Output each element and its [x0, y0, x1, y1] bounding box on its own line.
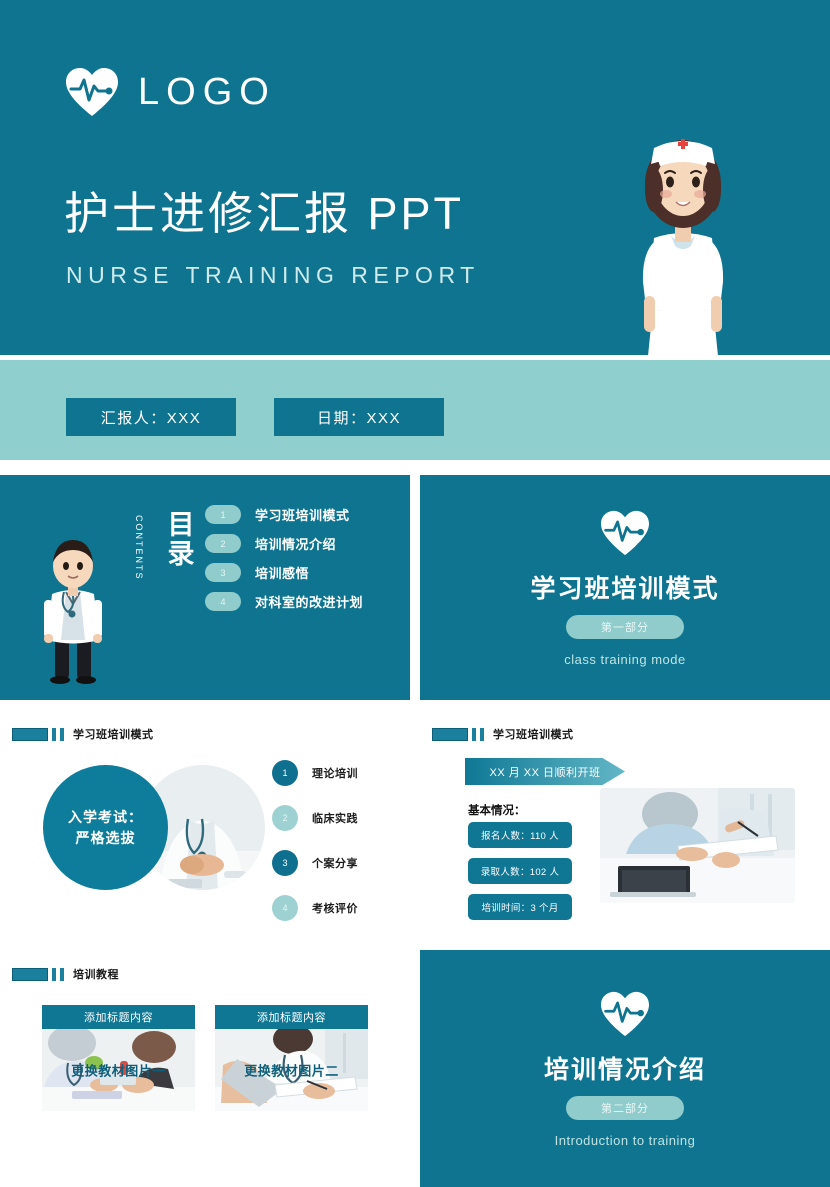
toc-list: 1 学习班培训模式 2 培训情况介绍 3 培训感悟 4 对科室的改进计划 [205, 505, 363, 611]
tutorial-card-image-label: 更换教材图片二 [215, 1061, 368, 1080]
admission-line-1: 入学考试： [68, 809, 143, 825]
heart-pulse-icon [599, 990, 651, 1038]
step-number: 3 [272, 850, 298, 876]
logo: LOGO [64, 66, 276, 118]
header-tick-icon [52, 728, 56, 741]
tutorial-card-title: 添加标题内容 [215, 1005, 368, 1029]
slide-admission: 学习班培训模式 入学考试： 严格选拔 [0, 710, 410, 940]
doctor-consultation-photo: 更换教材图片一 [42, 1029, 195, 1111]
slide-section-one: 学习班培训模式 第一部分 class training mode [420, 475, 830, 700]
training-step[interactable]: 1 理论培训 [272, 760, 358, 786]
toc-item[interactable]: 3 培训感悟 [205, 563, 363, 582]
slide-header: 学习班培训模式 [12, 726, 154, 742]
toc-item[interactable]: 1 学习班培训模式 [205, 505, 363, 524]
opening-date-banner: XX 月 XX 日顺利开班 [465, 758, 625, 785]
date-button[interactable]: 日期：XXX [274, 398, 444, 436]
step-label: 理论培训 [312, 765, 358, 781]
logo-text: LOGO [138, 73, 276, 111]
section-badge: 第二部分 [566, 1096, 684, 1120]
cover-meta-buttons: 汇报人：XXX 日期：XXX [66, 398, 444, 436]
cover-divider-rule [0, 355, 830, 360]
toc-item-label: 学习班培训模式 [255, 505, 350, 524]
step-label: 临床实践 [312, 810, 358, 826]
toc-item-label: 培训感悟 [255, 563, 309, 582]
basic-info-list: 报名人数：110 人 录取人数：102 人 培训时间：3 个月 [468, 822, 572, 920]
tutorial-card-image-label: 更换教材图片一 [42, 1061, 195, 1080]
admission-circle-badge: 入学考试： 严格选拔 [43, 765, 168, 890]
cover-title: 护士进修汇报 PPT [64, 190, 464, 237]
slide-header: 学习班培训模式 [432, 726, 574, 742]
heart-pulse-icon [599, 509, 651, 557]
slide-header-title: 学习班培训模式 [73, 726, 154, 742]
training-step[interactable]: 2 临床实践 [272, 805, 358, 831]
header-bar-icon [12, 968, 48, 981]
header-tick-icon [60, 728, 64, 741]
step-label: 个案分享 [312, 855, 358, 871]
section-title: 培训情况介绍 [544, 1050, 706, 1086]
stat-pill: 报名人数：110 人 [468, 822, 572, 848]
slide-table-of-contents: CONTENTS 目录 1 学习班培训模式 2 培训情况介绍 3 培训感悟 4 … [0, 475, 410, 700]
toc-item-label: 对科室的改进计划 [255, 592, 363, 611]
toc-item[interactable]: 2 培训情况介绍 [205, 534, 363, 553]
step-label: 考核评价 [312, 900, 358, 916]
presentation-preview: LOGO 护士进修汇报 PPT NURSE TRAINING REPORT 汇报… [0, 0, 830, 1187]
slide-section-two: 培训情况介绍 第二部分 Introduction to training [420, 950, 830, 1187]
training-step[interactable]: 3 个案分享 [272, 850, 358, 876]
slide-training-overview: 学习班培训模式 XX 月 XX 日顺利开班 基本情况： 报名人数：110 人 录… [420, 710, 830, 940]
reporter-button[interactable]: 汇报人：XXX [66, 398, 236, 436]
stat-pill: 录取人数：102 人 [468, 858, 572, 884]
toc-heading-chinese: 目录 [164, 511, 198, 569]
slide-training-tutorial: 培训教程 添加标题内容 [0, 950, 410, 1187]
basic-info-title: 基本情况： [468, 802, 526, 818]
header-tick-icon [480, 728, 484, 741]
section-english: class training mode [564, 651, 686, 670]
tutorial-card[interactable]: 添加标题内容 [42, 1005, 195, 1111]
slide-header-title: 培训教程 [73, 966, 119, 982]
toc-item-number: 2 [205, 534, 241, 553]
slide-header: 培训教程 [12, 966, 119, 982]
stat-pill: 培训时间：3 个月 [468, 894, 572, 920]
section-badge: 第一部分 [566, 615, 684, 639]
doctor-laptop-photo: 更换教材图片二 [215, 1029, 368, 1111]
section-english: Introduction to training [555, 1132, 696, 1151]
heart-pulse-icon [64, 66, 120, 118]
tutorial-card-list: 添加标题内容 [42, 1005, 368, 1111]
training-step[interactable]: 4 考核评价 [272, 895, 358, 921]
header-tick-icon [52, 968, 56, 981]
toc-item-number: 1 [205, 505, 241, 524]
step-number: 1 [272, 760, 298, 786]
cover-subtitle: NURSE TRAINING REPORT [66, 262, 480, 289]
tutorial-card-title: 添加标题内容 [42, 1005, 195, 1029]
step-number: 4 [272, 895, 298, 921]
header-bar-icon [432, 728, 468, 741]
section-title: 学习班培训模式 [530, 569, 719, 605]
toc-item-label: 培训情况介绍 [255, 534, 336, 553]
header-tick-icon [472, 728, 476, 741]
slide-header-title: 学习班培训模式 [493, 726, 574, 742]
toc-item[interactable]: 4 对科室的改进计划 [205, 592, 363, 611]
header-tick-icon [60, 968, 64, 981]
step-number: 2 [272, 805, 298, 831]
doctor-character-illustration [30, 534, 116, 684]
tutorial-card[interactable]: 添加标题内容 [215, 1005, 368, 1111]
training-steps-list: 1 理论培训 2 临床实践 3 个案分享 4 考核评价 [272, 760, 358, 921]
toc-item-number: 4 [205, 592, 241, 611]
toc-item-number: 3 [205, 563, 241, 582]
slide-cover: LOGO 护士进修汇报 PPT NURSE TRAINING REPORT 汇报… [0, 0, 830, 460]
admission-line-2: 严格选拔 [76, 830, 136, 846]
toc-heading: CONTENTS 目录 [130, 511, 200, 661]
toc-heading-english: CONTENTS [134, 515, 144, 581]
header-bar-icon [12, 728, 48, 741]
meeting-signing-document-photo [600, 788, 795, 903]
